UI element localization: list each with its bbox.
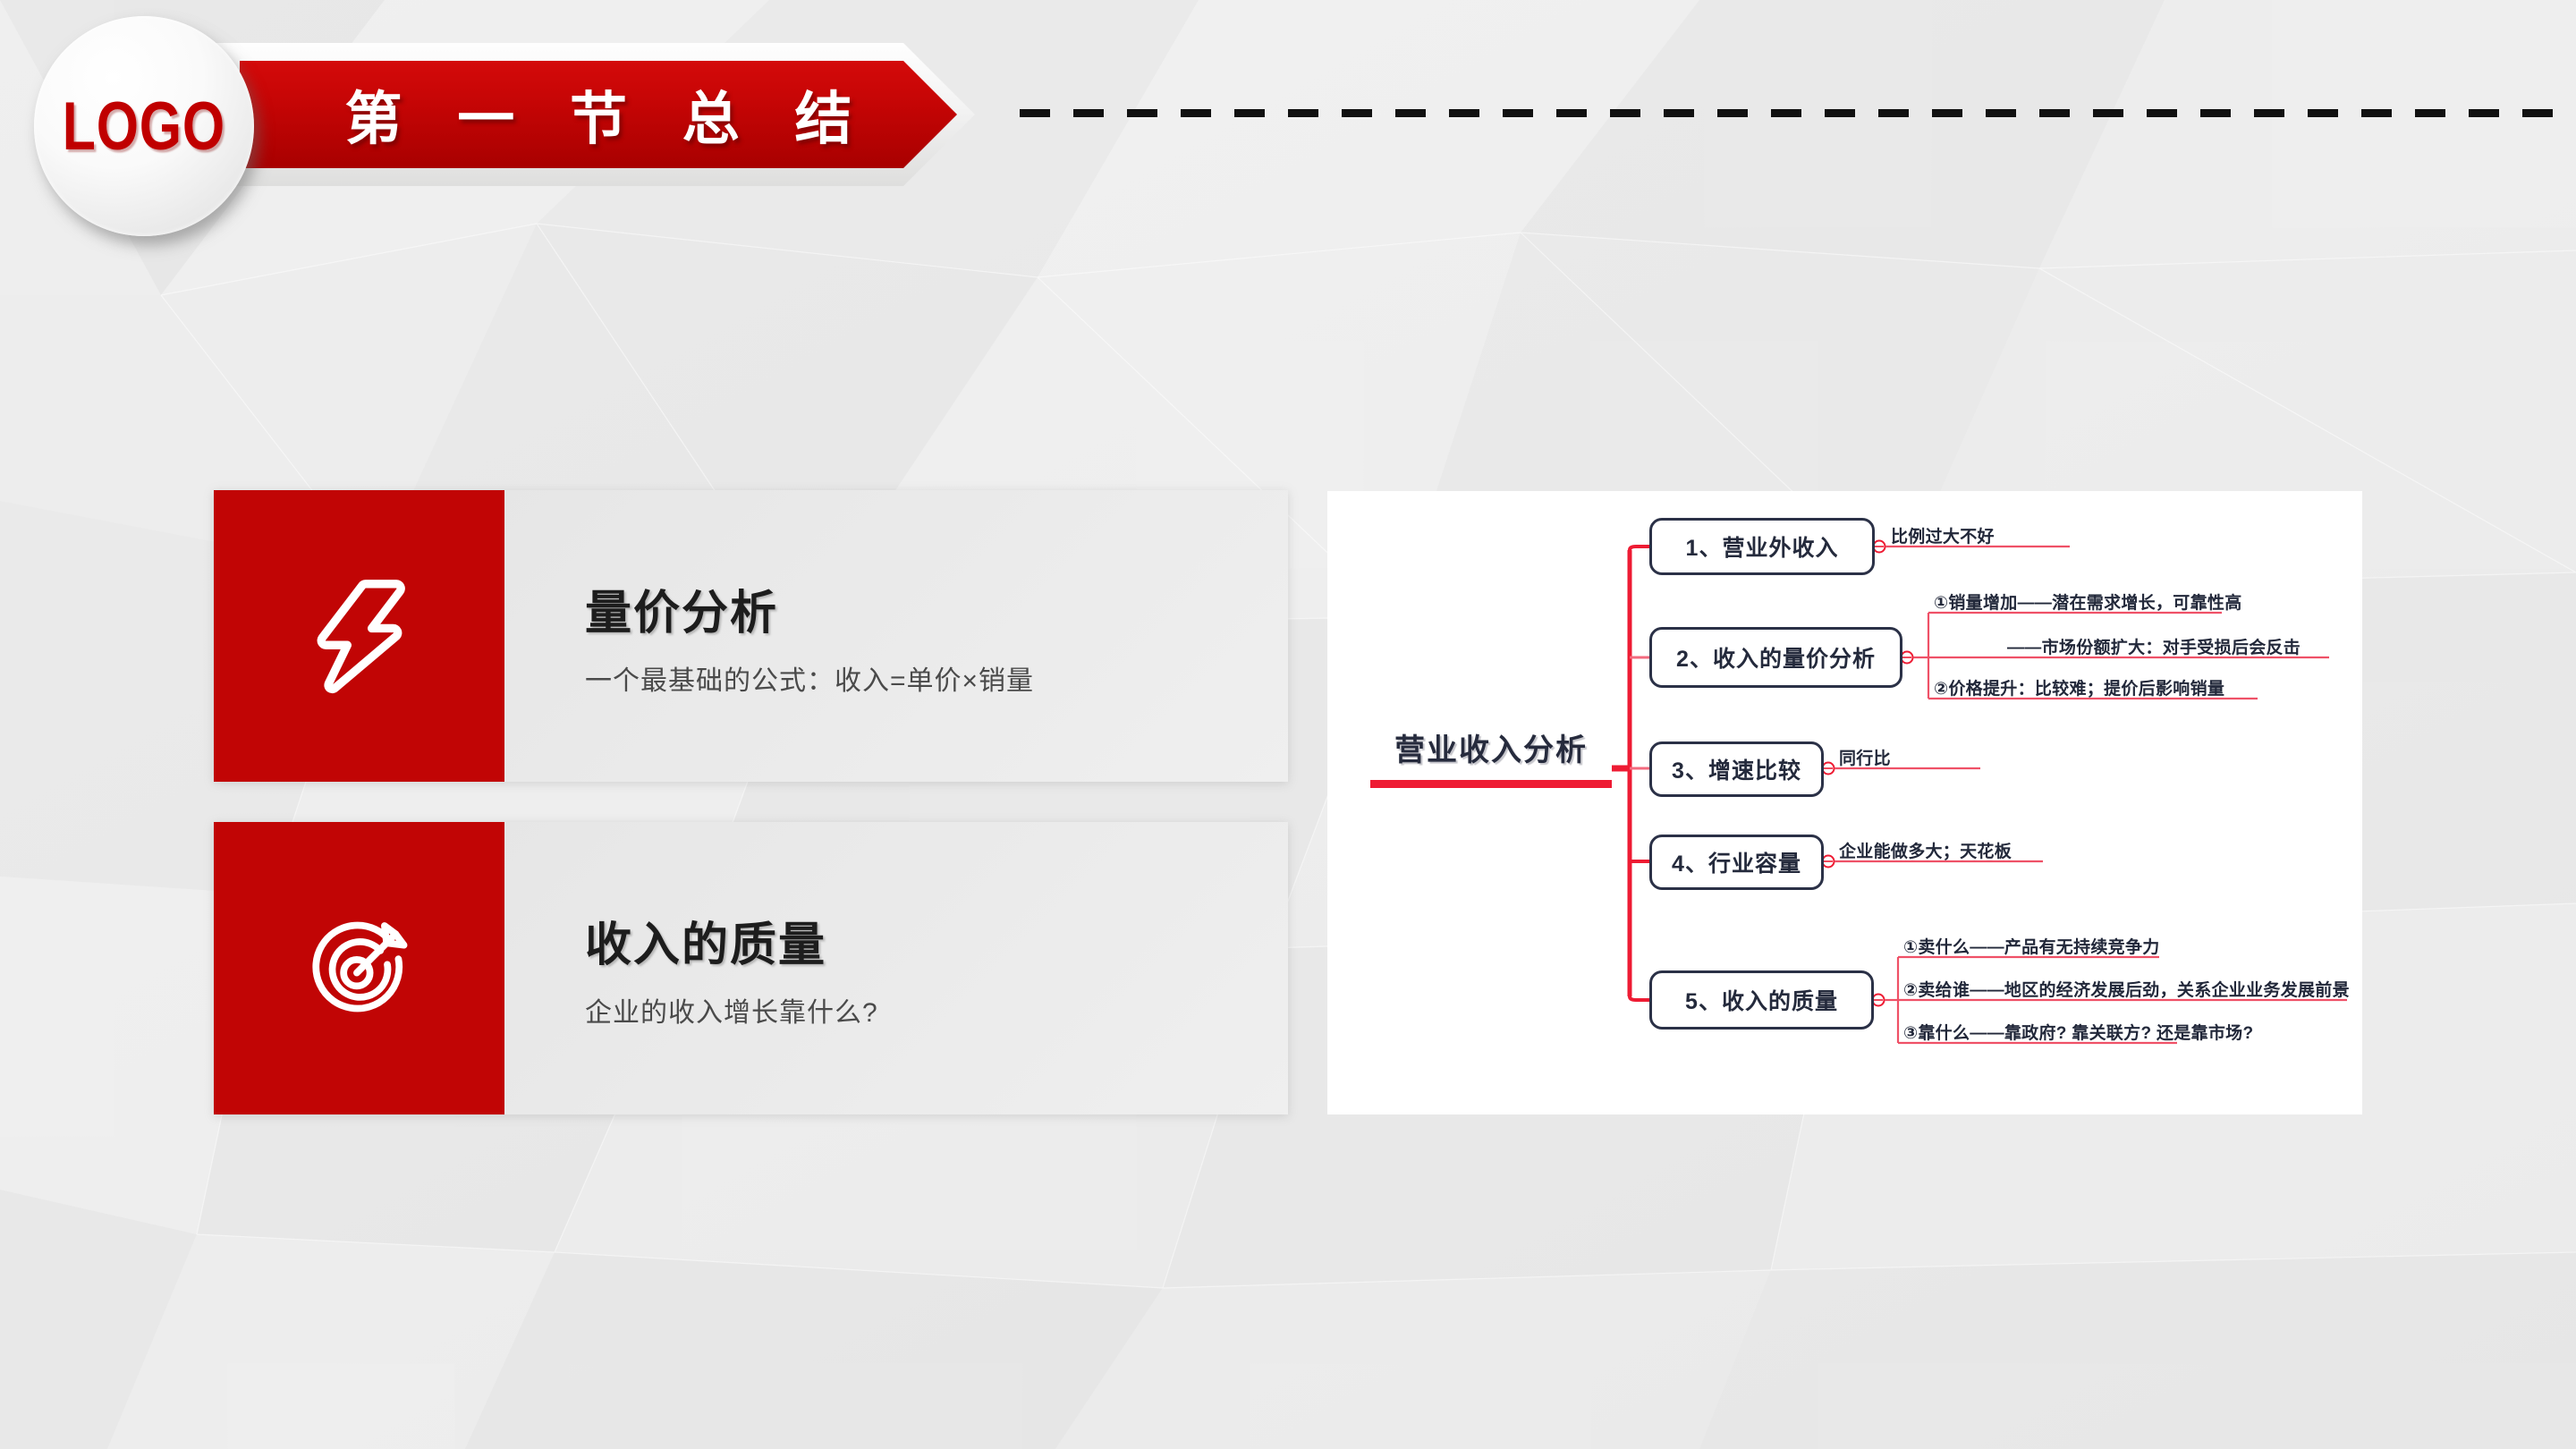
mindmap-leaf-5-1: ①卖什么——产品有无持续竞争力: [1903, 934, 2160, 958]
mindmap-root[interactable]: 营业收入分析: [1370, 725, 1612, 788]
lightning-bolt-icon: [310, 578, 409, 694]
logo-badge[interactable]: LOGO: [34, 16, 254, 236]
mindmap-node-1[interactable]: 1、营业外收入: [1649, 518, 1875, 575]
mindmap-node-5[interactable]: 5、收入的质量: [1649, 970, 1874, 1030]
mindmap-panel: 营业收入分析 1、营业外收入 2、收入的量价分析 3、增速比较 4、行业容量 5…: [1327, 491, 2362, 1114]
card-icon-panel: [214, 822, 504, 1114]
mindmap-leaf-2-3: ②价格提升：比较难；提价后影响销量: [1934, 675, 2224, 699]
banner-plate: 第 一 节 总 结: [240, 61, 957, 168]
mindmap-leaf-1-1: 比例过大不好: [1891, 523, 1995, 547]
mindmap-leaf-2-2: ——市场份额扩大：对手受损后会反击: [2007, 634, 2301, 658]
mindmap-root-underline: [1370, 780, 1612, 788]
header-dashed-rule: [1020, 109, 2576, 117]
logo-text: LOGO: [63, 88, 225, 165]
mindmap-leaf-5-2: ②卖给谁——地区的经济发展后劲，关系企业业务发展前景: [1903, 977, 2350, 1001]
mindmap-leaf-4-1: 企业能做多大；天花板: [1839, 838, 2012, 862]
mindmap-root-label: 营业收入分析: [1370, 725, 1612, 769]
card-icon-panel: [214, 490, 504, 782]
card-subtitle: 一个最基础的公式：收入=单价×销量: [585, 658, 1288, 698]
feature-card-revenue-quality[interactable]: 收入的质量 企业的收入增长靠什么?: [214, 822, 1288, 1114]
card-body: 量价分析 一个最基础的公式：收入=单价×销量: [504, 490, 1288, 782]
target-icon: [304, 913, 415, 1024]
mindmap-leaf-2-1: ①销量增加——潜在需求增长，可靠性高: [1934, 589, 2242, 614]
card-title: 收入的质量: [585, 907, 1288, 974]
header: 第 一 节 总 结 LOGO: [0, 0, 1073, 224]
feature-card-quantity-price[interactable]: 量价分析 一个最基础的公式：收入=单价×销量: [214, 490, 1288, 782]
card-body: 收入的质量 企业的收入增长靠什么?: [504, 822, 1288, 1114]
mindmap-node-2[interactable]: 2、收入的量价分析: [1649, 627, 1902, 688]
card-subtitle: 企业的收入增长靠什么?: [585, 990, 1288, 1030]
mindmap-node-4[interactable]: 4、行业容量: [1649, 835, 1824, 890]
mindmap-leaf-3-1: 同行比: [1839, 745, 1891, 769]
mindmap-node-3[interactable]: 3、增速比较: [1649, 741, 1824, 797]
mindmap-leaf-5-3: ③靠什么——靠政府? 靠关联方? 还是靠市场?: [1903, 1020, 2253, 1044]
banner-title: 第 一 节 总 结: [325, 73, 871, 156]
card-title: 量价分析: [585, 575, 1288, 642]
